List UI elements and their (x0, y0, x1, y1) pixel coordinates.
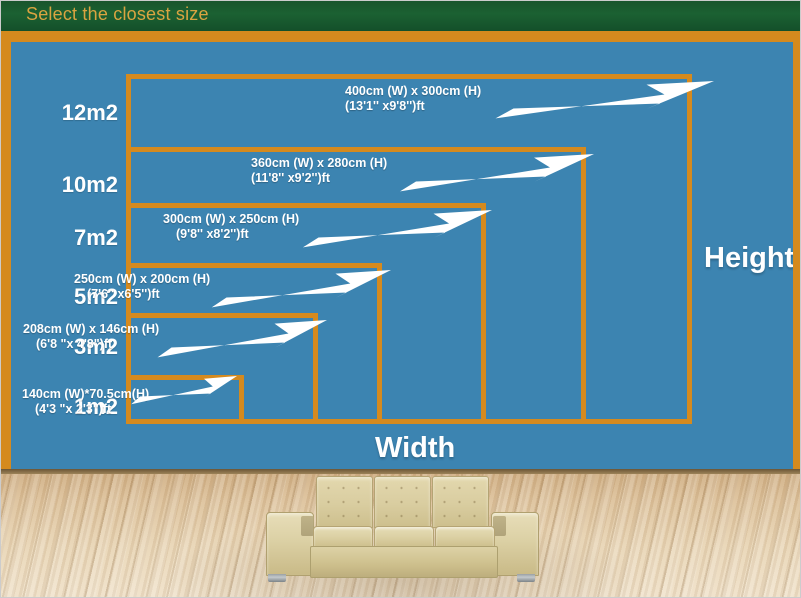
dimension-imperial: (7'6'' x6'5'')ft (74, 287, 210, 302)
dimension-metric: 300cm (W) x 250cm (H) (163, 212, 299, 226)
sofa-seat-right (435, 526, 495, 548)
size-rect-12m2[interactable] (126, 74, 692, 424)
sofa-armrest-right (491, 512, 539, 576)
sofa-seat-left (313, 526, 373, 548)
wall-frame: Height Width 12m2400cm (W) x 300cm (H)(1… (0, 31, 801, 469)
size-label-10m2: 10m2 (26, 172, 118, 198)
size-label-12m2: 12m2 (26, 100, 118, 126)
sofa-image (264, 474, 539, 592)
dimension-metric: 360cm (W) x 280cm (H) (251, 156, 387, 170)
sofa-armrest-left (266, 512, 314, 576)
dimension-metric: 250cm (W) x 200cm (H) (74, 272, 210, 286)
dimension-text-1m2: 140cm (W)*70.5cm(H)(4'3 "x 2'3")ft (22, 387, 149, 417)
dimension-text-3m2: 208cm (W) x 146cm (H)(6'8 "x 4'8")ft (23, 322, 159, 352)
dimension-metric: 208cm (W) x 146cm (H) (23, 322, 159, 336)
size-diagram: Height Width 12m2400cm (W) x 300cm (H)(1… (11, 42, 793, 470)
screenshot-root: Select the closest size Height Width 12m… (0, 0, 801, 598)
dimension-imperial: (13'1'' x9'8'')ft (345, 99, 481, 114)
dimension-imperial: (6'8 "x 4'8")ft (23, 337, 159, 352)
size-label-7m2: 7m2 (26, 225, 118, 251)
page-title: Select the closest size (26, 4, 209, 25)
dimension-text-10m2: 360cm (W) x 280cm (H)(11'8'' x9'2'')ft (251, 156, 387, 186)
dimension-imperial: (11'8'' x9'2'')ft (251, 171, 387, 186)
dimension-text-12m2: 400cm (W) x 300cm (H)(13'1'' x9'8'')ft (345, 84, 481, 114)
tufting-texture (317, 477, 372, 527)
dimension-imperial: (4'3 "x 2'3")ft (22, 402, 149, 417)
dimension-metric: 400cm (W) x 300cm (H) (345, 84, 481, 98)
sofa-back-right (432, 476, 489, 528)
tufting-texture (433, 477, 488, 527)
axis-label-width: Width (375, 432, 455, 465)
header-bar: Select the closest size (0, 0, 801, 31)
dimension-text-7m2: 300cm (W) x 250cm (H)(9'8'' x8'2'')ft (163, 212, 299, 242)
sofa-leg-left (268, 574, 286, 582)
tufting-texture (375, 477, 430, 527)
sofa-leg-right (517, 574, 535, 582)
sofa-seat-center (374, 526, 434, 548)
sofa-back-center (374, 476, 431, 528)
dimension-imperial: (9'8'' x8'2'')ft (163, 227, 299, 242)
sofa-back-left (316, 476, 373, 528)
wall-surface: Height Width 12m2400cm (W) x 300cm (H)(1… (11, 42, 793, 470)
dimension-metric: 140cm (W)*70.5cm(H) (22, 387, 149, 401)
dimension-text-5m2: 250cm (W) x 200cm (H)(7'6'' x6'5'')ft (74, 272, 210, 302)
axis-label-height: Height (704, 242, 793, 275)
sofa-base (310, 546, 498, 578)
